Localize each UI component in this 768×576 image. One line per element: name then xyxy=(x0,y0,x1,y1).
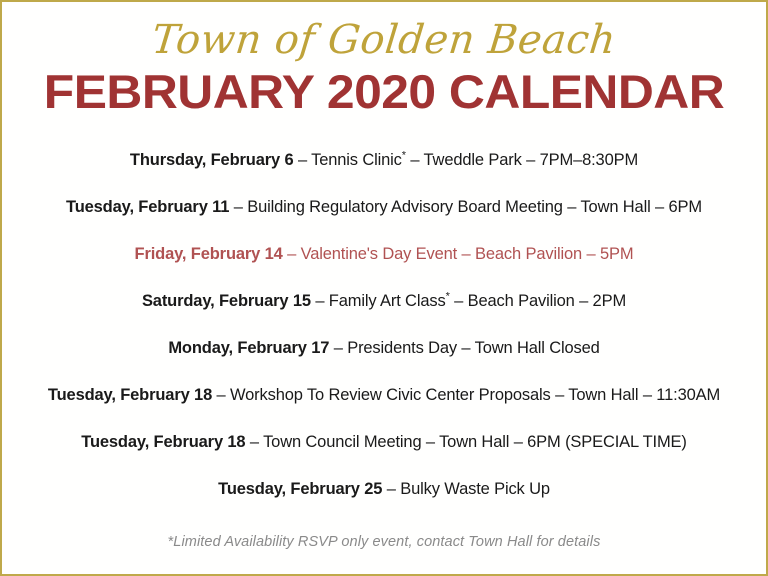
calendar-flyer: Town of Golden Beach FEBRUARY 2020 CALEN… xyxy=(0,0,768,576)
event-description: – Workshop To Review Civic Center Propos… xyxy=(212,386,551,404)
event-date: Tuesday, February 25 xyxy=(218,480,382,498)
event-details: – Beach Pavilion – 2PM xyxy=(450,292,626,310)
event-date: Tuesday, February 11 xyxy=(66,198,229,216)
event-description: – Building Regulatory Advisory Board Mee… xyxy=(229,198,563,216)
event-description: – Town Council Meeting xyxy=(245,433,421,451)
event-list: Thursday, February 6 – Tennis Clinic* – … xyxy=(2,136,766,512)
event-description: – Bulky Waste Pick Up xyxy=(382,480,550,498)
event-description: – Valentine's Day Event xyxy=(283,245,457,263)
event-line: Monday, February 17 – Presidents Day – T… xyxy=(2,324,766,371)
event-line: Tuesday, February 18 – Workshop To Revie… xyxy=(2,371,766,418)
event-line: Friday, February 14 – Valentine's Day Ev… xyxy=(2,230,766,277)
event-date: Tuesday, February 18 xyxy=(81,433,245,451)
event-description: – Presidents Day xyxy=(329,339,457,357)
event-description: – Tennis Clinic xyxy=(294,151,402,169)
event-details: – Tweddle Park – 7PM–8:30PM xyxy=(406,151,638,169)
event-line: Thursday, February 6 – Tennis Clinic* – … xyxy=(2,136,766,183)
event-line: Saturday, February 15 – Family Art Class… xyxy=(2,277,766,324)
event-description: – Family Art Class xyxy=(311,292,446,310)
event-date: Friday, February 14 xyxy=(135,245,283,263)
event-date: Saturday, February 15 xyxy=(142,292,311,310)
page-title: FEBRUARY 2020 CALENDAR xyxy=(0,66,768,118)
event-details: – Town Hall Closed xyxy=(457,339,600,357)
event-line: Tuesday, February 11 – Building Regulato… xyxy=(2,183,766,230)
event-date: Tuesday, February 18 xyxy=(48,386,212,404)
footnote: *Limited Availability RSVP only event, c… xyxy=(2,533,766,551)
event-details: – Town Hall – 6PM (SPECIAL TIME) xyxy=(421,433,686,451)
event-details: – Beach Pavilion – 5PM xyxy=(457,245,633,263)
event-line: Tuesday, February 18 – Town Council Meet… xyxy=(2,418,766,465)
flyer-header: Town of Golden Beach FEBRUARY 2020 CALEN… xyxy=(2,2,766,118)
event-date: Monday, February 17 xyxy=(168,339,329,357)
event-details: – Town Hall – 11:30AM xyxy=(551,386,720,404)
event-details: – Town Hall – 6PM xyxy=(563,198,702,216)
organization-title: Town of Golden Beach xyxy=(0,16,768,64)
event-line: Tuesday, February 25 – Bulky Waste Pick … xyxy=(2,465,766,512)
flyer-inner: Town of Golden Beach FEBRUARY 2020 CALEN… xyxy=(2,2,766,574)
event-date: Thursday, February 6 xyxy=(130,151,294,169)
